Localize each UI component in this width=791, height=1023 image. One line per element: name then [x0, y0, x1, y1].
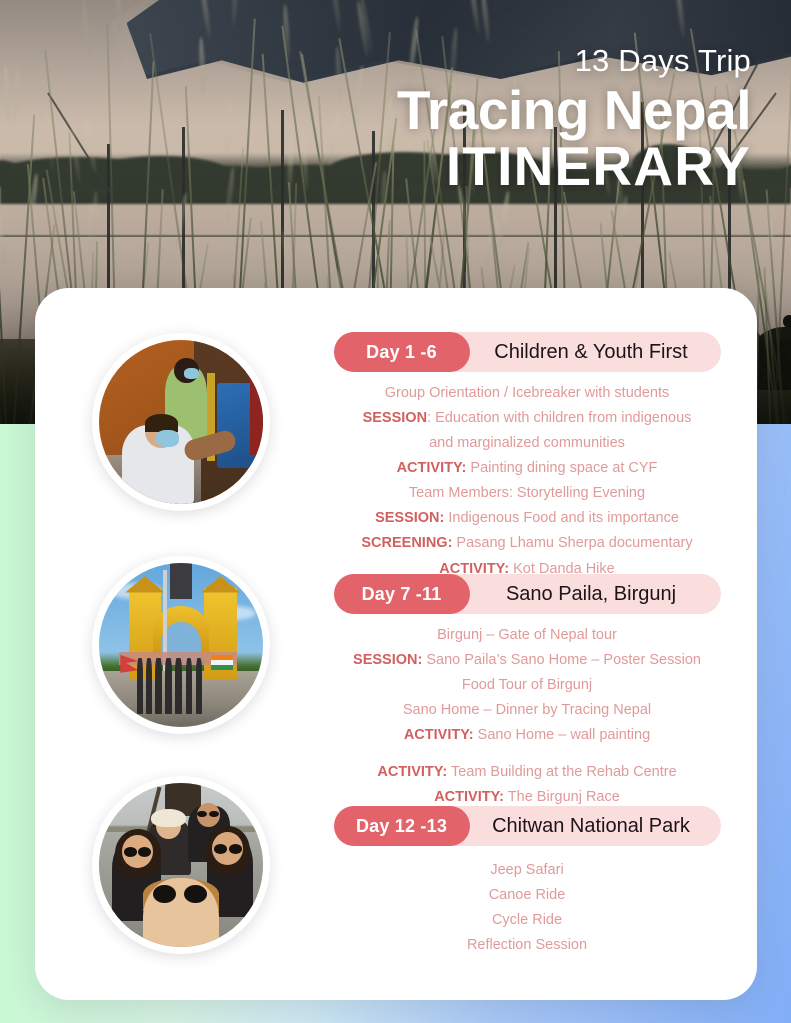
- itinerary-card: Day 1 -6Children & Youth FirstGroup Orie…: [35, 288, 757, 1000]
- day-badge: Day 1 -6: [334, 332, 470, 372]
- day-lines: Birgunj – Gate of Nepal tourSESSION: San…: [297, 623, 757, 811]
- day-title: Sano Paila, Birgunj: [470, 583, 721, 606]
- itinerary-column: Day 1 -6Children & Youth FirstGroup Orie…: [297, 288, 757, 1000]
- itinerary-line: ACTIVITY: Team Building at the Rehab Cen…: [297, 760, 757, 785]
- itinerary-line-lead: ACTIVITY:: [397, 460, 467, 476]
- day-badge: Day 7 -11: [334, 574, 470, 614]
- itinerary-line: Cycle Ride: [297, 908, 757, 933]
- itinerary-line: ACTIVITY: Sano Home – wall painting: [297, 723, 757, 748]
- day-block: Day 1 -6Children & Youth FirstGroup Orie…: [297, 332, 757, 582]
- itinerary-line: SCREENING: Pasang Lhamu Sherpa documenta…: [297, 531, 757, 556]
- itinerary-line-lead: ACTIVITY:: [434, 789, 504, 805]
- itinerary-line: and marginalized communities: [297, 431, 757, 456]
- canoe-selfie-photo: [92, 776, 270, 954]
- itinerary-line-lead: SESSION: [363, 410, 427, 426]
- painting-dining-space-photo: [92, 333, 270, 511]
- photo-column: [35, 288, 297, 1000]
- itinerary-line: Birgunj – Gate of Nepal tour: [297, 623, 757, 648]
- itinerary-line: Sano Home – Dinner by Tracing Nepal: [297, 698, 757, 723]
- itinerary-line: SESSION: Indigenous Food and its importa…: [297, 506, 757, 531]
- itinerary-line: Jeep Safari: [297, 858, 757, 883]
- itinerary-line: Canoe Ride: [297, 883, 757, 908]
- itinerary-line-lead: SCREENING:: [361, 535, 452, 551]
- itinerary-line: SESSION: Sano Paila’s Sano Home – Poster…: [297, 648, 757, 673]
- itinerary-poster: 13 Days Trip Tracing Nepal ITINERARY: [0, 0, 791, 1023]
- itinerary-line: ACTIVITY: Painting dining space at CYF: [297, 456, 757, 481]
- day-header[interactable]: Day 12 -13Chitwan National Park: [334, 806, 721, 846]
- day-badge: Day 12 -13: [334, 806, 470, 846]
- day-title: Chitwan National Park: [470, 815, 721, 838]
- day-title: Children & Youth First: [470, 341, 721, 364]
- day-block: Day 7 -11Sano Paila, BirgunjBirgunj – Ga…: [297, 574, 757, 811]
- day-lines: Jeep SafariCanoe RideCycle RideReflectio…: [297, 858, 757, 958]
- itinerary-line: Reflection Session: [297, 933, 757, 958]
- itinerary-line: Team Members: Storytelling Evening: [297, 481, 757, 506]
- day-lines: Group Orientation / Icebreaker with stud…: [297, 381, 757, 582]
- day-block: Day 12 -13Chitwan National ParkJeep Safa…: [297, 806, 757, 958]
- itinerary-line: Food Tour of Birgunj: [297, 673, 757, 698]
- hero-text-block: 13 Days Trip Tracing Nepal ITINERARY: [397, 44, 751, 194]
- itinerary-line: Group Orientation / Icebreaker with stud…: [297, 381, 757, 406]
- hero-kicker: 13 Days Trip: [397, 44, 751, 78]
- itinerary-line-lead: ACTIVITY:: [377, 764, 447, 780]
- day-header[interactable]: Day 1 -6Children & Youth First: [334, 332, 721, 372]
- hero-title-sub: ITINERARY: [397, 139, 751, 194]
- itinerary-line: SESSION: Education with children from in…: [297, 406, 757, 431]
- hero-title-main: Tracing Nepal: [397, 82, 751, 139]
- day-header[interactable]: Day 7 -11Sano Paila, Birgunj: [334, 574, 721, 614]
- gate-of-nepal-photo: [92, 556, 270, 734]
- itinerary-line-lead: SESSION:: [375, 510, 444, 526]
- itinerary-line-lead: ACTIVITY:: [404, 727, 474, 743]
- itinerary-line-lead: SESSION:: [353, 652, 422, 668]
